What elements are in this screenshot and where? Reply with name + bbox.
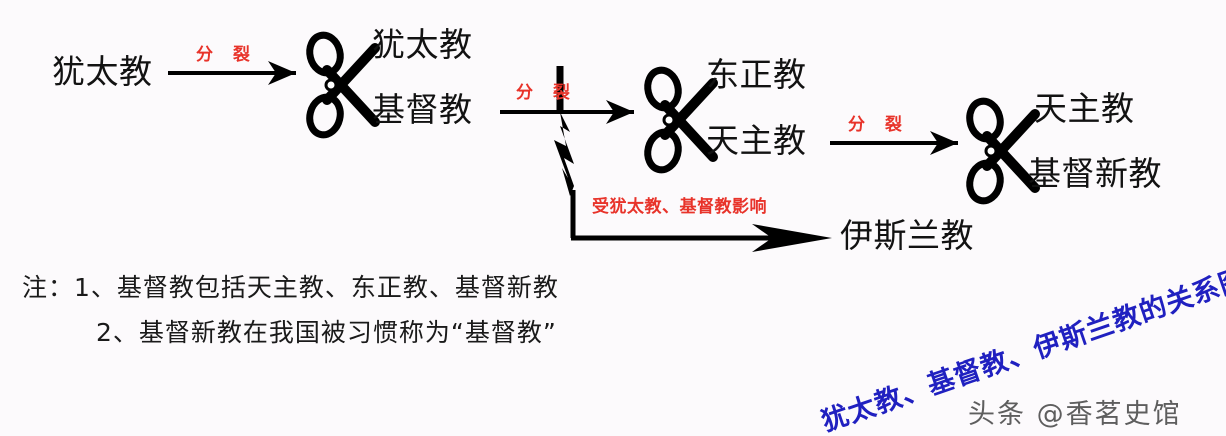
node-christianity: 基督教 bbox=[372, 93, 473, 126]
note-item-1: 1、基督教包括天主教、东正教、基督新教 bbox=[74, 273, 559, 302]
node-orthodox: 东正教 bbox=[706, 58, 807, 91]
arrow-right-icon bbox=[571, 224, 832, 252]
edge-label-split-1: 分 裂 bbox=[196, 47, 257, 64]
scissors-icon bbox=[306, 32, 375, 138]
note-line-1: 注：1、基督教包括天主教、东正教、基督新教 bbox=[22, 275, 559, 300]
edge-label-influence: 受犹太教、基督教影响 bbox=[592, 199, 767, 216]
node-judaism-root: 犹太教 bbox=[52, 55, 153, 88]
note-item-2: 2、基督新教在我国被习惯称为“基督教” bbox=[96, 318, 557, 347]
arrow-right-icon bbox=[500, 100, 634, 124]
edge-label-split-3: 分 裂 bbox=[848, 117, 909, 134]
watermark: 头条 @香茗史馆 bbox=[968, 392, 1182, 431]
note-line-2: 2、基督新教在我国被习惯称为“基督教” bbox=[96, 320, 557, 345]
diagram-vector-layer bbox=[0, 0, 1226, 436]
node-judaism-branch: 犹太教 bbox=[372, 28, 473, 61]
scissors-icon bbox=[644, 67, 713, 173]
node-catholic: 天主教 bbox=[706, 124, 807, 157]
note-prefix: 注： bbox=[22, 273, 74, 302]
scissors-icon bbox=[966, 98, 1035, 204]
node-catholic-result: 天主教 bbox=[1034, 92, 1135, 125]
edge-label-split-2: 分 裂 bbox=[516, 85, 577, 102]
diagram-canvas: 犹太教 分 裂 犹太教 基督教 分 裂 东正教 天主教 分 裂 天主教 基督新教… bbox=[0, 0, 1226, 436]
node-protestant: 基督新教 bbox=[1028, 157, 1162, 190]
node-islam: 伊斯兰教 bbox=[840, 219, 974, 252]
